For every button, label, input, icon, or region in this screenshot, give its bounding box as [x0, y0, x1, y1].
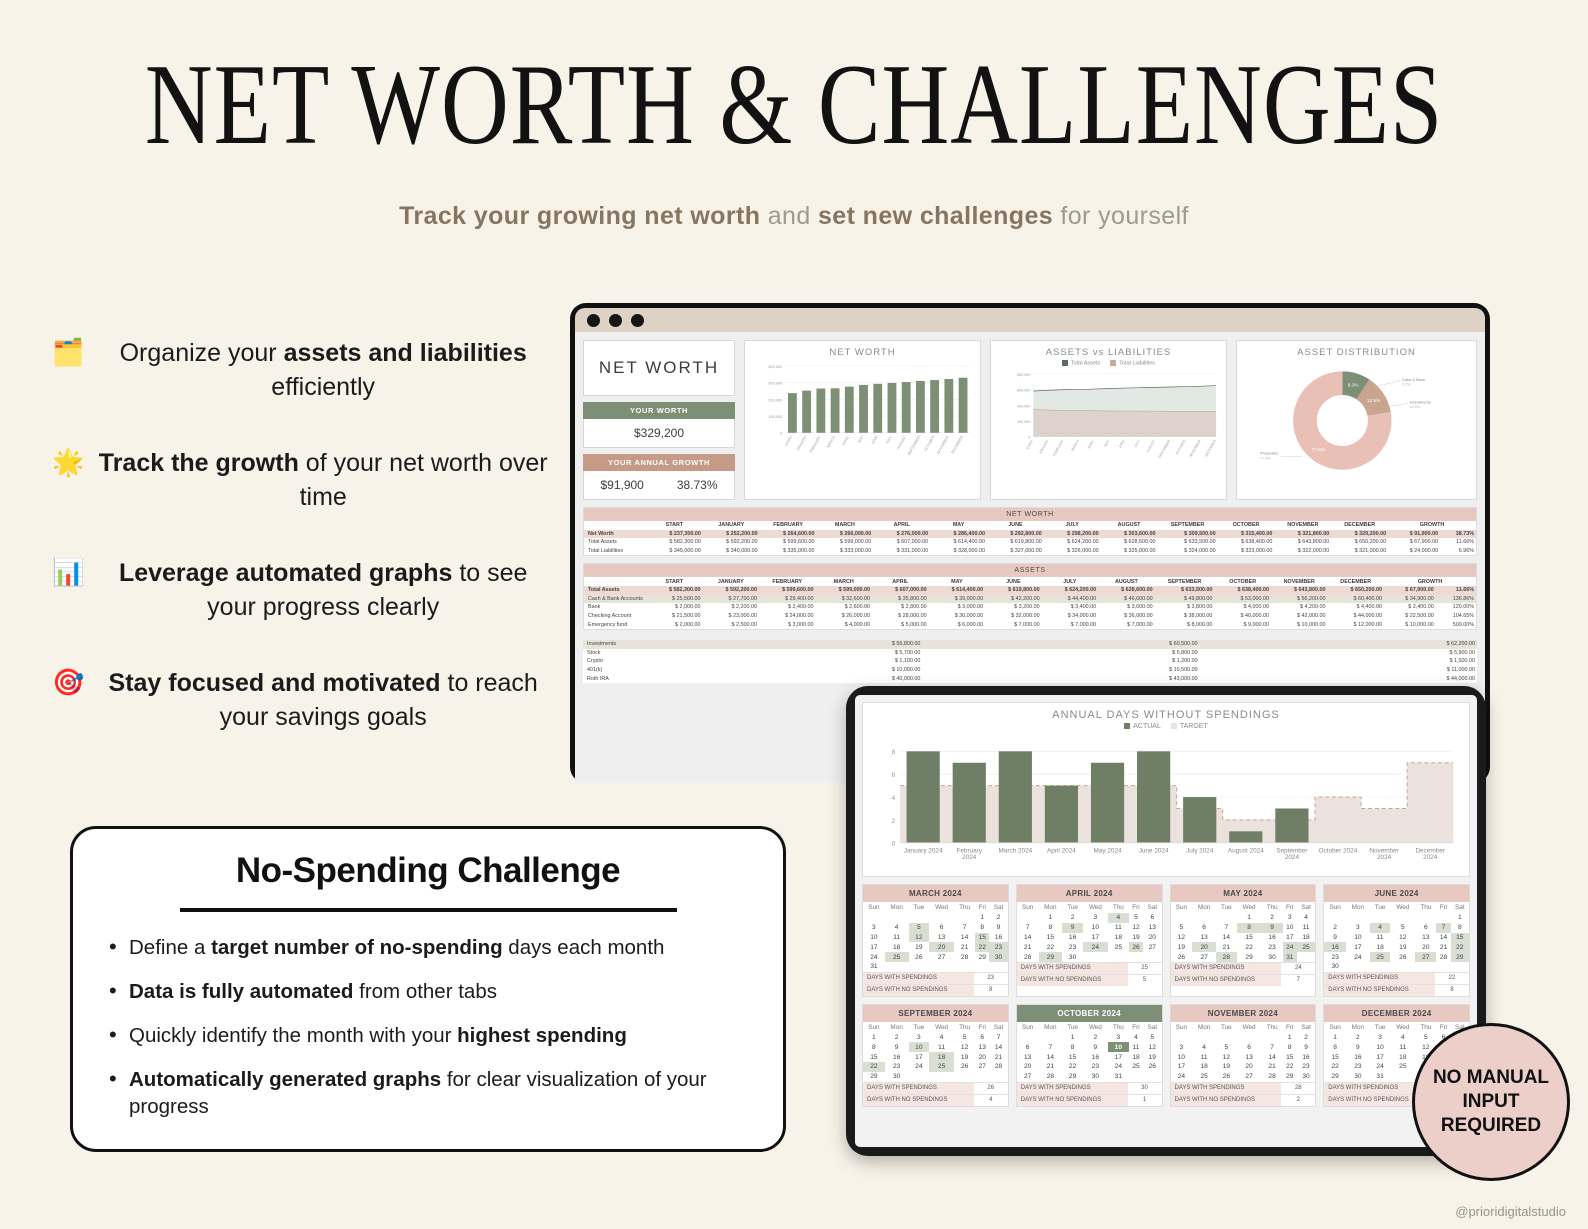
calendar-day-cell[interactable]: 12: [1390, 933, 1415, 943]
calendar-day-cell[interactable]: 24: [1346, 952, 1370, 962]
calendar-day-cell[interactable]: 21: [1017, 942, 1039, 952]
calendar-day-cell[interactable]: 9: [1062, 923, 1083, 933]
calendar-day-cell[interactable]: 26: [954, 1062, 975, 1072]
calendar-day-cell[interactable]: 26: [1143, 1062, 1161, 1072]
calendar-day-cell[interactable]: 7: [1039, 1042, 1063, 1052]
table-cell: $ 9,000.00: [1214, 620, 1271, 629]
calendar-day-cell[interactable]: 8: [975, 923, 989, 933]
calendar-day-cell[interactable]: 11: [1390, 1042, 1415, 1052]
calendar-day-cell[interactable]: 3: [863, 923, 885, 933]
calendar-day-cell[interactable]: 22: [1451, 942, 1469, 952]
calendar-day-cell[interactable]: 19: [909, 942, 930, 952]
calendar-day-cell[interactable]: 30: [1297, 1072, 1315, 1082]
calendar-day-cell[interactable]: 18: [1297, 933, 1315, 943]
calendar-day-cell[interactable]: 13: [975, 1042, 989, 1052]
calendar-day-cell[interactable]: 20: [1237, 1062, 1262, 1072]
svg-text:Investments: Investments: [1409, 400, 1430, 405]
calendar-day-cell[interactable]: 25: [1297, 942, 1315, 952]
calendar-day-cell[interactable]: 26: [1171, 952, 1193, 962]
calendar-day-cell[interactable]: 28: [1436, 952, 1450, 962]
calendar-day-cell[interactable]: 16: [1262, 933, 1283, 943]
calendar-day-cell[interactable]: 16: [1297, 1052, 1315, 1062]
no-spending-challenge-card: No-Spending Challenge Define a target nu…: [70, 826, 786, 1152]
calendar-day-cell[interactable]: 12: [1171, 933, 1193, 943]
legend-item: ACTUAL: [1124, 723, 1161, 730]
calendar-day-cell[interactable]: 7: [1216, 923, 1237, 933]
calendar-day-cell[interactable]: 25: [1108, 942, 1129, 952]
calendar-day-cell[interactable]: 23: [1297, 1062, 1315, 1072]
calendar-week-row: 16171819202122: [1324, 942, 1469, 952]
calendar-day-cell[interactable]: 4: [1129, 1033, 1143, 1043]
calendar-day-cell[interactable]: 19: [1390, 942, 1415, 952]
days-with-no-spendings-row: DAYS WITH NO SPENDINGS1: [1017, 1094, 1162, 1106]
calendar-day-cell[interactable]: 4: [1108, 913, 1129, 923]
calendar-day-cell[interactable]: 31: [1283, 952, 1297, 962]
calendar-day-cell[interactable]: 21: [1262, 1062, 1283, 1072]
calendar-day-cell[interactable]: 4: [1192, 1042, 1216, 1052]
calendar-day-cell[interactable]: 4: [1297, 913, 1315, 923]
calendar-day-cell[interactable]: 27: [929, 952, 954, 962]
calendar-day-cell[interactable]: 17: [1283, 933, 1297, 943]
close-icon[interactable]: [587, 314, 600, 327]
calendar-day-cell[interactable]: 14: [1216, 933, 1237, 943]
calendar-day-cell[interactable]: 5: [1171, 923, 1193, 933]
calendar-day-cell[interactable]: 2: [1083, 1033, 1108, 1043]
tablet-screen: ANNUAL DAYS WITHOUT SPENDINGS ACTUALTARG…: [855, 695, 1477, 1147]
calendar-day-cell[interactable]: 22: [863, 1062, 885, 1072]
calendar-week-row: 891011121314: [863, 1042, 1008, 1052]
calendar-day-cell[interactable]: 29: [1324, 1072, 1346, 1082]
svg-text:2024: 2024: [962, 854, 977, 861]
challenge-bullet: Automatically generated graphs for clear…: [103, 1066, 753, 1120]
calendar-day-cell[interactable]: 23: [1262, 942, 1283, 952]
calendar-empty-cell: [1390, 962, 1415, 972]
calendar-day-cell[interactable]: 18: [1192, 1062, 1216, 1072]
table-cell: $ 582,300.00: [646, 586, 703, 595]
table-row: Checking Account$ 21,500.00$ 23,000.00$ …: [584, 612, 1476, 621]
calendar-day-cell[interactable]: 6: [1143, 913, 1161, 923]
calendar-day-cell[interactable]: 30: [1324, 962, 1346, 972]
calendar-day-cell[interactable]: 24: [1370, 1062, 1391, 1072]
minimize-icon[interactable]: [609, 314, 622, 327]
calendar-day-cell[interactable]: 10: [1283, 923, 1297, 933]
calendar-day-cell[interactable]: 12: [954, 1042, 975, 1052]
calendar-day-cell[interactable]: 15: [1039, 933, 1063, 943]
table-col-header: NOVEMBER: [1274, 521, 1331, 530]
calendar-day-cell[interactable]: 1: [1062, 1033, 1083, 1043]
calendar-day-cell[interactable]: 5: [1216, 1042, 1237, 1052]
calendar-week-row: 17181920212223: [863, 942, 1008, 952]
calendar-day-cell[interactable]: 2: [1324, 923, 1346, 933]
calendar-day-cell[interactable]: 26: [1129, 942, 1143, 952]
net-worth-heading: NET WORTH: [583, 340, 735, 396]
calendar-day-cell[interactable]: 23: [1062, 942, 1083, 952]
calendar-empty-cell: [885, 962, 909, 972]
calendar-day-cell[interactable]: 20: [975, 1052, 989, 1062]
calendar-day-cell[interactable]: 5: [1129, 913, 1143, 923]
svg-text:JUNE: JUNE: [1118, 439, 1126, 449]
table-col-header: MARCH: [816, 577, 873, 586]
calendar-day-cell[interactable]: 29: [1283, 1072, 1297, 1082]
svg-text:12.9%: 12.9%: [1367, 398, 1381, 404]
calendar-month-title: SEPTEMBER 2024: [863, 1005, 1008, 1022]
calendar-day-cell[interactable]: 18: [929, 1052, 954, 1062]
calendar-day-cell[interactable]: 8: [863, 1042, 885, 1052]
calendar-day-cell[interactable]: 9: [1083, 1042, 1108, 1052]
calendar-day-cell[interactable]: 3: [909, 1033, 930, 1043]
subtitle-plain-1: and: [760, 202, 818, 230]
calendar-day-cell[interactable]: 1: [1324, 1033, 1346, 1043]
calendar-day-cell[interactable]: 10: [863, 933, 885, 943]
calendar-day-cell[interactable]: 31: [1370, 1072, 1391, 1082]
calendar-day-cell[interactable]: 27: [1415, 952, 1436, 962]
calendar-day-cell[interactable]: 21: [1039, 1062, 1063, 1072]
calendar-day-cell[interactable]: 5: [1143, 1033, 1161, 1043]
calendar-day-cell[interactable]: 6: [975, 1033, 989, 1043]
calendar-day-cell[interactable]: 1: [1039, 913, 1063, 923]
table-cell: $ 599,600.00: [760, 538, 817, 547]
calendar-day-cell[interactable]: 15: [863, 1052, 885, 1062]
row-label: DAYS WITH SPENDINGS: [1324, 973, 1435, 984]
calendar-day-cell[interactable]: 9: [989, 923, 1007, 933]
calendar-day-cell[interactable]: 24: [1171, 1072, 1193, 1082]
weekday-header: Thu: [1262, 1022, 1283, 1033]
calendar-day-cell[interactable]: 25: [885, 952, 909, 962]
legend-item: Total Liabilities: [1110, 360, 1155, 366]
calendar-day-cell[interactable]: 21: [1436, 942, 1450, 952]
calendar-day-cell[interactable]: 29: [1062, 1072, 1083, 1082]
calendar-day-cell[interactable]: 24: [1283, 942, 1297, 952]
calendar-day-cell[interactable]: 14: [954, 933, 975, 943]
calendar-day-cell[interactable]: 23: [989, 942, 1007, 952]
calendar-day-cell[interactable]: 15: [1237, 933, 1262, 943]
calendar-day-cell[interactable]: 8: [1451, 923, 1469, 933]
asset-distribution-chart: ASSET DISTRIBUTION 9.3%12.9%77.8%Cash & …: [1236, 340, 1477, 500]
calendar-week-row: 3456789: [1171, 1042, 1316, 1052]
calendar-day-cell[interactable]: 16: [989, 933, 1007, 943]
calendar-day-cell[interactable]: 7: [1262, 1042, 1283, 1052]
calendar-day-cell[interactable]: 27: [1192, 952, 1216, 962]
maximize-icon[interactable]: [631, 314, 644, 327]
calendar-day-cell[interactable]: 20: [1192, 942, 1216, 952]
calendar-day-cell[interactable]: 22: [1039, 942, 1063, 952]
calendar-day-cell[interactable]: 30: [1062, 952, 1083, 962]
calendar-day-cell[interactable]: 21: [1216, 942, 1237, 952]
calendar-empty-cell: [975, 1072, 989, 1082]
calendar-day-cell[interactable]: 29: [1237, 952, 1262, 962]
calendar-day-cell[interactable]: 13: [1017, 1052, 1039, 1062]
calendar-day-cell[interactable]: 9: [1324, 933, 1346, 943]
calendar-day-cell[interactable]: 17: [1083, 933, 1108, 943]
calendar-day-cell[interactable]: 31: [863, 962, 885, 972]
calendar-day-cell[interactable]: 12: [1143, 1042, 1161, 1052]
calendar-day-cell[interactable]: 28: [989, 1062, 1007, 1072]
calendar-day-cell[interactable]: 29: [1039, 952, 1063, 962]
calendar-day-cell[interactable]: 12: [909, 933, 930, 943]
calendar-day-cell[interactable]: 2: [1297, 1033, 1315, 1043]
calendar-week-row: 20212223242526: [1017, 1062, 1162, 1072]
calendar-day-cell[interactable]: 13: [1143, 923, 1161, 933]
annual-growth-percent: 38.73%: [677, 478, 718, 492]
calendar-day-cell[interactable]: 31: [1108, 1072, 1129, 1082]
calendar-day-cell[interactable]: 18: [1390, 1052, 1415, 1062]
calendar-day-cell[interactable]: 6: [1017, 1042, 1039, 1052]
net-worth-summary-card: NET WORTH YOUR WORTH $329,200 YOUR ANNUA…: [583, 340, 735, 500]
calendar-day-cell[interactable]: 22: [1283, 1062, 1297, 1072]
table-cell: $ 309,500.00: [1157, 530, 1217, 539]
row-label: DAYS WITH NO SPENDINGS: [1017, 975, 1128, 986]
calendar-day-cell[interactable]: 22: [975, 942, 989, 952]
calendar-day-cell[interactable]: 29: [1451, 952, 1469, 962]
calendar-day-cell[interactable]: 1: [975, 913, 989, 923]
calendar-day-cell[interactable]: 21: [954, 942, 975, 952]
calendar-day-cell[interactable]: 24: [1108, 1062, 1129, 1072]
calendar-day-cell[interactable]: 30: [1346, 1072, 1370, 1082]
calendar-day-cell[interactable]: 14: [989, 1042, 1007, 1052]
weekday-header: Mon: [885, 902, 909, 913]
calendar-table: SunMonTueWedThuFriSat1234567891011121314…: [1171, 1022, 1316, 1082]
calendar-day-cell[interactable]: 5: [1415, 1033, 1436, 1043]
no-manual-input-badge: NO MANUAL INPUT REQUIRED: [1412, 1023, 1570, 1181]
calendar-day-cell[interactable]: 27: [1237, 1072, 1262, 1082]
calendar-day-cell[interactable]: 23: [1083, 1062, 1108, 1072]
calendar-day-cell[interactable]: 28: [1017, 952, 1039, 962]
calendar-day-cell[interactable]: 11: [929, 1042, 954, 1052]
calendar-day-cell[interactable]: 5: [909, 923, 930, 933]
weekday-header: Mon: [1039, 902, 1063, 913]
calendar-day-cell[interactable]: 15: [975, 933, 989, 943]
calendar-day-cell[interactable]: 1: [1451, 913, 1469, 923]
table-cell: $ 607,000.00: [872, 586, 929, 595]
calendar-day-cell[interactable]: 14: [1436, 933, 1450, 943]
calendar-day-cell[interactable]: 10: [1083, 923, 1108, 933]
calendar-day-cell[interactable]: 30: [885, 1072, 909, 1082]
calendar-day-cell[interactable]: 17: [1346, 942, 1370, 952]
calendar-empty-cell: [863, 913, 885, 923]
calendar-day-cell[interactable]: 22: [1237, 942, 1262, 952]
row-label: DAYS WITH NO SPENDINGS: [1171, 1095, 1282, 1106]
calendar-day-cell[interactable]: 16: [1346, 1052, 1370, 1062]
annual-days-chart-svg: 02468January 2024February2024March 2024A…: [871, 732, 1461, 872]
calendar-day-cell[interactable]: 15: [1324, 1052, 1346, 1062]
calendar-day-cell[interactable]: 6: [1415, 923, 1436, 933]
calendar-day-cell[interactable]: 23: [885, 1062, 909, 1072]
calendar-day-cell[interactable]: 14: [1017, 933, 1039, 943]
svg-text:0: 0: [780, 431, 783, 436]
calendar-day-cell[interactable]: 18: [1108, 933, 1129, 943]
calendar-day-cell[interactable]: 20: [929, 942, 954, 952]
table-cell: $ 327,000.00: [987, 547, 1044, 556]
calendar-day-cell[interactable]: 24: [909, 1062, 930, 1072]
calendar-day-cell[interactable]: 27: [1143, 942, 1161, 952]
calendar-day-cell[interactable]: 8: [1283, 1042, 1297, 1052]
calendar-day-cell[interactable]: 25: [1390, 1062, 1415, 1072]
calendar-day-cell[interactable]: 11: [1297, 923, 1315, 933]
growth-percent: 6.96%: [1440, 547, 1476, 556]
calendar-day-cell[interactable]: 24: [863, 952, 885, 962]
calendar-day-cell[interactable]: 6: [929, 923, 954, 933]
weekday-header: Fri: [1129, 902, 1143, 913]
calendar-day-cell[interactable]: 30: [989, 952, 1007, 962]
calendar-day-cell[interactable]: 2: [885, 1033, 909, 1043]
calendar-day-cell[interactable]: 28: [1039, 1072, 1063, 1082]
calendar-day-cell[interactable]: 3: [1283, 913, 1297, 923]
table-cell: $ 633,500.00: [1157, 538, 1217, 547]
calendar-day-cell[interactable]: 4: [885, 923, 909, 933]
calendar-day-cell[interactable]: 19: [1129, 933, 1143, 943]
calendar-day-cell[interactable]: 18: [885, 942, 909, 952]
calendar-day-cell[interactable]: 9: [1297, 1042, 1315, 1052]
calendar-day-cell[interactable]: 8: [1237, 923, 1262, 933]
calendar-day-cell[interactable]: 5: [954, 1033, 975, 1043]
calendar-week-row: 19202122232425: [1171, 942, 1316, 952]
calendar-day-cell[interactable]: 7: [1017, 923, 1039, 933]
calendar-table: SunMonTueWedThuFriSat1234567891011121314…: [1171, 902, 1316, 962]
calendar-day-cell[interactable]: 18: [1129, 1052, 1143, 1062]
calendar-day-cell[interactable]: 22: [1324, 1062, 1346, 1072]
calendar-day-cell[interactable]: 2: [1346, 1033, 1370, 1043]
calendar-day-cell[interactable]: 10: [1370, 1042, 1391, 1052]
calendar-day-cell[interactable]: 11: [1129, 1042, 1143, 1052]
calendar-day-cell[interactable]: 1: [1283, 1033, 1297, 1043]
calendar-day-cell[interactable]: 12: [1129, 923, 1143, 933]
calendar-day-cell[interactable]: 2: [989, 913, 1007, 923]
table-cell: $ 1,100.00: [645, 657, 922, 666]
calendar-day-cell[interactable]: 26: [1390, 952, 1415, 962]
calendar-day-cell[interactable]: 11: [885, 933, 909, 943]
calendar-day-cell[interactable]: 2: [1262, 913, 1283, 923]
calendar-day-cell[interactable]: 19: [1216, 1062, 1237, 1072]
calendar-day-cell[interactable]: 3: [1108, 1033, 1129, 1043]
calendar-day-cell[interactable]: 19: [954, 1052, 975, 1062]
calendar-day-cell[interactable]: 18: [1370, 942, 1391, 952]
calendar-day-cell[interactable]: 5: [1390, 923, 1415, 933]
days-with-no-spendings-row: DAYS WITH NO SPENDINGS5: [1017, 974, 1162, 986]
calendar-day-cell[interactable]: 15: [1451, 933, 1469, 943]
calendar-day-cell[interactable]: 27: [1017, 1072, 1039, 1082]
calendar-day-cell[interactable]: 25: [1192, 1072, 1216, 1082]
calendar-day-cell[interactable]: 9: [885, 1042, 909, 1052]
calendar-day-cell[interactable]: 13: [1415, 933, 1436, 943]
calendar-day-cell[interactable]: 4: [1390, 1033, 1415, 1043]
calendar-day-cell[interactable]: 7: [989, 1033, 1007, 1043]
calendar-day-cell[interactable]: 4: [929, 1033, 954, 1043]
calendar-day-cell[interactable]: 25: [1129, 1062, 1143, 1072]
calendar-day-cell[interactable]: 7: [1436, 923, 1450, 933]
calendar-day-cell[interactable]: 12: [1216, 1052, 1237, 1062]
calendar-day-cell[interactable]: 30: [1262, 952, 1283, 962]
calendar-day-cell[interactable]: 14: [1262, 1052, 1283, 1062]
calendar-week-row: 15161718192021: [863, 1052, 1008, 1062]
calendar-day-cell[interactable]: 10: [1171, 1052, 1193, 1062]
calendar-day-cell[interactable]: 17: [863, 942, 885, 952]
calendar-day-cell[interactable]: 10: [1108, 1042, 1129, 1052]
calendar-day-cell[interactable]: 3: [1171, 1042, 1193, 1052]
calendar-day-cell[interactable]: 28: [1262, 1072, 1283, 1082]
calendar-day-cell[interactable]: 21: [989, 1052, 1007, 1062]
days-with-spendings-row: DAYS WITH SPENDINGS30: [1017, 1082, 1162, 1094]
calendar-day-cell[interactable]: 10: [909, 1042, 930, 1052]
calendar-day-cell[interactable]: 28: [954, 952, 975, 962]
row-label: DAYS WITH SPENDINGS: [863, 973, 974, 984]
calendar-day-cell[interactable]: 24: [1083, 942, 1108, 952]
calendar-day-cell[interactable]: 3: [1083, 913, 1108, 923]
calendar-week-row: 12131415161718: [1171, 933, 1316, 943]
calendar-day-cell[interactable]: 7: [954, 923, 975, 933]
calendar-day-cell[interactable]: 22: [1062, 1062, 1083, 1072]
calendar-day-cell[interactable]: 23: [1324, 952, 1346, 962]
calendar-day-cell[interactable]: 11: [1192, 1052, 1216, 1062]
calendar-day-cell[interactable]: 8: [1039, 923, 1063, 933]
calendar-day-cell[interactable]: 29: [975, 952, 989, 962]
calendar-empty-cell: [909, 1072, 930, 1082]
calendar-day-cell[interactable]: 9: [1262, 923, 1283, 933]
calendar-day-cell[interactable]: 13: [929, 933, 954, 943]
calendar-day-cell[interactable]: 6: [1237, 1042, 1262, 1052]
calendar-day-cell[interactable]: 17: [1108, 1052, 1129, 1062]
table-col-header: SEPTEMBER: [1157, 521, 1217, 530]
calendar-day-cell[interactable]: 17: [909, 1052, 930, 1062]
calendar-day-cell[interactable]: 8: [1324, 1042, 1346, 1052]
calendar-day-cell[interactable]: 25: [929, 1062, 954, 1072]
calendar-day-cell[interactable]: 11: [1370, 933, 1391, 943]
calendar-day-cell[interactable]: 16: [1083, 1052, 1108, 1062]
table-cell: $ 599,600.00: [759, 586, 816, 595]
calendar-day-cell[interactable]: 29: [863, 1072, 885, 1082]
calendar-day-cell[interactable]: 23: [1346, 1062, 1370, 1072]
calendar-day-cell[interactable]: 16: [885, 1052, 909, 1062]
calendar-day-cell[interactable]: 19: [1171, 942, 1193, 952]
calendar-day-cell[interactable]: 20: [1143, 933, 1161, 943]
row-value: 2: [1281, 1095, 1315, 1106]
calendar-day-cell[interactable]: 20: [1017, 1062, 1039, 1072]
calendar-day-cell[interactable]: 4: [1370, 923, 1391, 933]
calendar-day-cell[interactable]: 14: [1039, 1052, 1063, 1062]
calendar-day-cell[interactable]: 20: [1415, 942, 1436, 952]
calendar-day-cell[interactable]: 1: [863, 1033, 885, 1043]
calendar-day-cell[interactable]: 2: [1062, 913, 1083, 923]
row-label: DAYS WITH SPENDINGS: [1017, 963, 1128, 974]
calendar-day-cell[interactable]: 27: [975, 1062, 989, 1072]
calendar-day-cell[interactable]: 1: [1237, 913, 1262, 923]
calendar-day-cell[interactable]: 13: [1192, 933, 1216, 943]
calendar-day-cell[interactable]: 30: [1083, 1072, 1108, 1082]
calendar-day-cell[interactable]: 16: [1324, 942, 1346, 952]
calendar-day-cell[interactable]: 10: [1346, 933, 1370, 943]
calendar-day-cell[interactable]: 19: [1143, 1052, 1161, 1062]
calendar-day-cell[interactable]: 13: [1237, 1052, 1262, 1062]
calendar-day-cell[interactable]: 26: [1216, 1072, 1237, 1082]
calendar-day-cell[interactable]: 11: [1108, 923, 1129, 933]
calendar-day-cell[interactable]: 28: [1216, 952, 1237, 962]
table-cell: $ 650,200.00: [1331, 538, 1388, 547]
row-value: 22: [1435, 973, 1469, 984]
calendar-day-cell[interactable]: 6: [1192, 923, 1216, 933]
svg-text:12.9%: 12.9%: [1409, 405, 1420, 409]
calendar-day-cell[interactable]: 3: [1370, 1033, 1391, 1043]
calendar-day-cell[interactable]: 16: [1062, 933, 1083, 943]
calendar-day-cell[interactable]: 9: [1346, 1042, 1370, 1052]
calendar-day-cell[interactable]: 15: [1283, 1052, 1297, 1062]
calendar-day-cell[interactable]: 26: [909, 952, 930, 962]
calendar-day-cell[interactable]: 8: [1062, 1042, 1083, 1052]
calendar-day-cell[interactable]: 25: [1370, 952, 1391, 962]
table-cell: $ 4,200.00: [1271, 603, 1328, 612]
calendar-day-cell[interactable]: 3: [1346, 923, 1370, 933]
calendar-day-cell[interactable]: 15: [1062, 1052, 1083, 1062]
calendar-day-cell[interactable]: 17: [1370, 1052, 1391, 1062]
calendar-day-cell[interactable]: 17: [1171, 1062, 1193, 1072]
